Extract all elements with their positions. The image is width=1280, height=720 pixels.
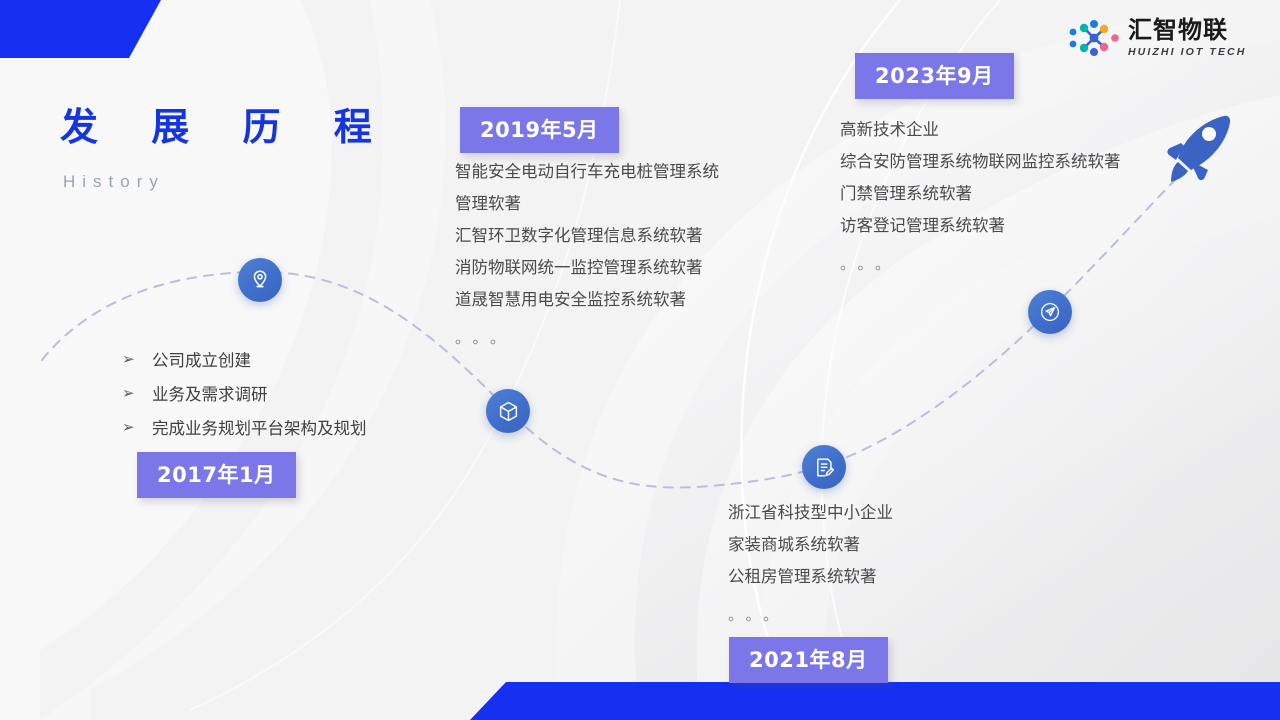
- milestone-line: 综合安防管理系统物联网监控系统软著: [840, 146, 1121, 178]
- milestone-ellipsis: 。。。: [840, 248, 1121, 280]
- milestone-line: 智能安全电动自行车充电桩管理系统: [455, 156, 719, 188]
- milestone-ellipsis: 。。。: [455, 322, 719, 354]
- milestone-text-2019: 智能安全电动自行车充电桩管理系统 管理软著 汇智环卫数字化管理信息系统软著 消防…: [455, 156, 719, 354]
- timeline-node-2019[interactable]: [486, 389, 530, 433]
- milestone-text-2021: 浙江省科技型中小企业 家装商城系统软著 公租房管理系统软著 。。。: [728, 497, 893, 631]
- list-item-label: 公司成立创建: [152, 347, 251, 371]
- location-pin-icon: [248, 268, 272, 292]
- bullet-arrow-icon: ➢: [122, 384, 152, 402]
- logo-title-cn: 汇智物联: [1128, 18, 1246, 42]
- page-subtitle: History: [63, 172, 165, 192]
- milestone-line: 公租房管理系统软著: [728, 561, 893, 593]
- bullet-arrow-icon: ➢: [122, 350, 152, 368]
- milestone-text-2023: 高新技术企业 综合安防管理系统物联网监控系统软著 门禁管理系统软著 访客登记管理…: [840, 114, 1121, 280]
- cube-box-icon: [497, 400, 520, 423]
- list-item: ➢ 完成业务规划平台架构及规划: [122, 410, 367, 444]
- milestone-line: 门禁管理系统软著: [840, 178, 1121, 210]
- milestone-line: 管理软著: [455, 188, 719, 220]
- milestone-line: 消防物联网统一监控管理系统软著: [455, 252, 719, 284]
- list-item-label: 完成业务规划平台架构及规划: [152, 415, 367, 439]
- slide-canvas: 汇智物联 HUIZHI IOT TECH 发 展 历 程 History: [0, 0, 1280, 720]
- milestone-badge-2021[interactable]: 2021年8月: [729, 637, 888, 683]
- logo-title-en: HUIZHI IOT TECH: [1128, 47, 1246, 58]
- page-title: 发 展 历 程: [60, 96, 392, 151]
- milestone-line: 浙江省科技型中小企业: [728, 497, 893, 529]
- list-item: ➢ 业务及需求调研: [122, 376, 367, 410]
- milestone-line: 家装商城系统软著: [728, 529, 893, 561]
- molecule-nodes-icon: [1068, 18, 1120, 58]
- milestone-line: 高新技术企业: [840, 114, 1121, 146]
- milestone-2017-bullets: ➢ 公司成立创建 ➢ 业务及需求调研 ➢ 完成业务规划平台架构及规划: [122, 342, 367, 444]
- brand-logo: 汇智物联 HUIZHI IOT TECH: [1068, 12, 1268, 64]
- rocket-icon: [1162, 110, 1238, 192]
- milestone-line: 道晟智慧用电安全监控系统软著: [455, 284, 719, 316]
- timeline-node-2017[interactable]: [238, 258, 282, 302]
- milestone-ellipsis: 。。。: [728, 599, 893, 631]
- list-item: ➢ 公司成立创建: [122, 342, 367, 376]
- milestone-line: 访客登记管理系统软著: [840, 210, 1121, 242]
- list-item-label: 业务及需求调研: [152, 381, 268, 405]
- milestone-badge-2023[interactable]: 2023年9月: [855, 53, 1014, 99]
- document-edit-icon: [813, 456, 836, 479]
- paper-plane-icon: [1038, 300, 1062, 324]
- milestone-badge-2019[interactable]: 2019年5月: [460, 107, 619, 153]
- milestone-badge-2017[interactable]: 2017年1月: [137, 452, 296, 498]
- milestone-line: 汇智环卫数字化管理信息系统软著: [455, 220, 719, 252]
- timeline-node-2021[interactable]: [802, 445, 846, 489]
- timeline-node-2023[interactable]: [1028, 290, 1072, 334]
- bullet-arrow-icon: ➢: [122, 418, 152, 436]
